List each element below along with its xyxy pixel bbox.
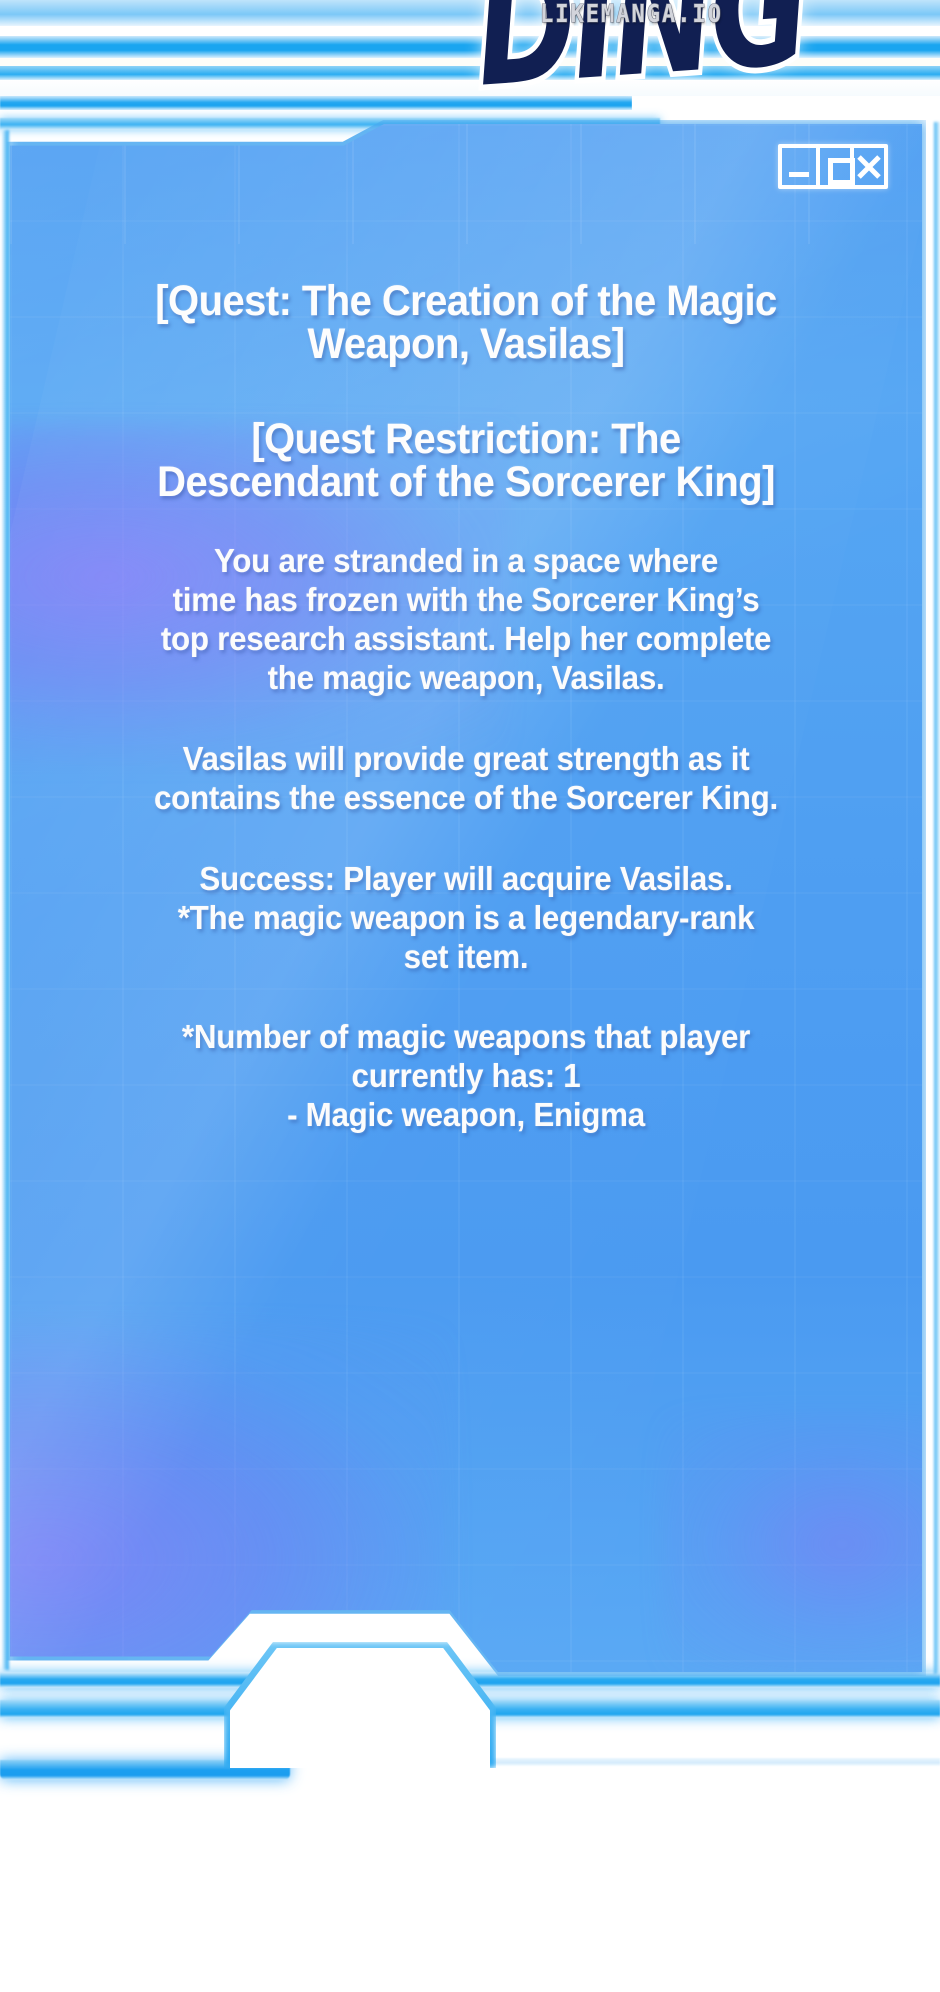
paragraph-spacer: [71, 976, 861, 1018]
bottom-notch-wedge: [230, 1648, 490, 1768]
paragraph-spacer: [71, 818, 861, 860]
site-watermark: LIKEMANGA.IO: [540, 1, 723, 29]
panel-frame-stripe-top-outer: [0, 96, 632, 110]
close-icon[interactable]: [850, 148, 884, 185]
quest-paragraph-3: Success: Player will acquire Vasilas. *T…: [71, 860, 861, 977]
paragraph-spacer: [71, 698, 861, 740]
panel-violet-haze-lower: [10, 1324, 450, 1672]
panel-left-edge-glow: [2, 130, 9, 1670]
panel-right-edge-glow: [934, 122, 940, 1674]
quest-window-screenshot: DING LIKEMANGA.IO [Quest: The Creation o…: [0, 0, 940, 1992]
maximize-icon[interactable]: [816, 148, 850, 185]
quest-paragraph-2: Vasilas will provide great strength as i…: [71, 740, 861, 818]
quest-title: [Quest: The Creation of the Magic Weapon…: [79, 280, 853, 366]
top-banner: DING LIKEMANGA.IO: [0, 0, 940, 96]
panel-violet-haze-right: [662, 1414, 922, 1672]
quest-body: You are stranded in a space where time h…: [71, 542, 861, 1135]
window-controls-group: [778, 144, 888, 189]
quest-panel: [Quest: The Creation of the Magic Weapon…: [10, 124, 922, 1672]
quest-paragraph-4: *Number of magic weapons that player cur…: [71, 1018, 861, 1135]
minimize-icon[interactable]: [782, 148, 816, 185]
quest-paragraph-1: You are stranded in a space where time h…: [71, 542, 861, 698]
quest-restriction: [Quest Restriction: The Descendant of th…: [79, 418, 853, 504]
